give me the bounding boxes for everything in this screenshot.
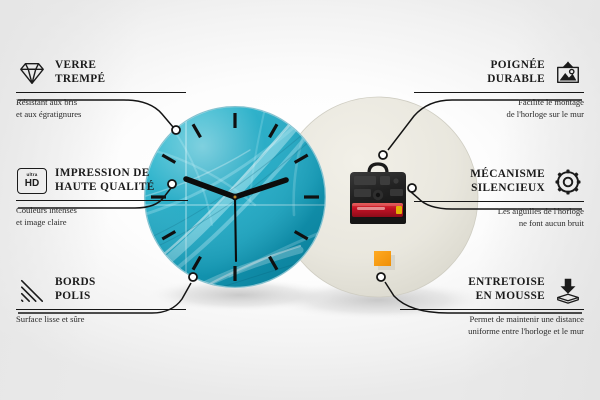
title-line-1: IMPRESSION DE xyxy=(55,167,155,181)
divider xyxy=(16,200,188,201)
feature-title: VERRE TREMPÉ xyxy=(55,59,105,87)
marker-polished-edges xyxy=(189,273,197,281)
marker-durable-hanger xyxy=(379,151,387,159)
feature-silent-mechanism: MÉCANISME SILENCIEUX Les aiguilles de l'… xyxy=(414,165,584,230)
picture-hanger-icon xyxy=(552,58,584,88)
title-line-1: MÉCANISME xyxy=(470,168,545,182)
desc-line-2: de l'horloge sur le mur xyxy=(414,109,584,121)
desc-line-1: Facilite le montage xyxy=(414,97,584,109)
desc-line-1: Les aiguilles de l'horloge xyxy=(414,206,584,218)
desc-line-2: uniforme entre l'horloge et le mur xyxy=(400,326,584,338)
desc-line-1: Permet de maintenir une distance xyxy=(400,314,584,326)
marker-foam-spacer xyxy=(377,273,385,281)
title-line-2: TREMPÉ xyxy=(55,73,105,87)
diamond-icon xyxy=(16,58,48,88)
feature-head: ENTRETOISE EN MOUSSE xyxy=(400,273,584,307)
divider xyxy=(400,309,584,310)
feature-title: BORDS POLIS xyxy=(55,276,96,304)
feature-title: ENTRETOISE EN MOUSSE xyxy=(468,276,545,304)
feature-head: ultra HD IMPRESSION DE HAUTE QUALITÉ xyxy=(16,164,188,198)
divider xyxy=(414,201,584,202)
title-line-1: POIGNÉE xyxy=(487,59,545,73)
feature-head: BORDS POLIS xyxy=(16,273,186,307)
battery xyxy=(352,203,403,217)
foam-spacer-icon xyxy=(552,275,584,305)
feature-title: MÉCANISME SILENCIEUX xyxy=(470,168,545,196)
desc-line-2: et aux égratignures xyxy=(16,109,186,121)
title-line-2: SILENCIEUX xyxy=(470,182,545,196)
title-line-1: ENTRETOISE xyxy=(468,276,545,290)
feature-durable-hanger: POIGNÉE DURABLE Facilite le montage de l… xyxy=(414,56,584,121)
feature-title: IMPRESSION DE HAUTE QUALITÉ xyxy=(55,167,155,195)
feature-description: Les aiguilles de l'horloge ne font aucun… xyxy=(414,206,584,229)
feature-head: POIGNÉE DURABLE xyxy=(414,56,584,90)
divider xyxy=(16,309,186,310)
feature-polished-edges: BORDS POLIS Surface lisse et sûre xyxy=(16,273,186,326)
title-line-2: EN MOUSSE xyxy=(468,290,545,304)
desc-line-2: et image claire xyxy=(16,217,188,229)
feature-head: VERRE TREMPÉ xyxy=(16,56,186,90)
infographic-canvas: VERRE TREMPÉ Résistant aux bris et aux é… xyxy=(0,0,600,400)
feature-description: Résistant aux bris et aux égratignures xyxy=(16,97,186,120)
divider xyxy=(414,92,584,93)
desc-line-1: Résistant aux bris xyxy=(16,97,186,109)
feature-title: POIGNÉE DURABLE xyxy=(487,59,545,87)
feature-description: Surface lisse et sûre xyxy=(16,314,186,326)
feature-head: MÉCANISME SILENCIEUX xyxy=(414,165,584,199)
mechanism-housing xyxy=(350,164,406,224)
feature-description: Couleurs intenses et image claire xyxy=(16,205,188,228)
feature-foam-spacer: ENTRETOISE EN MOUSSE Permet de maintenir… xyxy=(400,273,584,338)
desc-line-1: Couleurs intenses xyxy=(16,205,188,217)
title-line-1: BORDS xyxy=(55,276,96,290)
ultra-hd-icon: ultra HD xyxy=(16,166,48,196)
feature-description: Permet de maintenir une distance uniform… xyxy=(400,314,584,337)
divider xyxy=(16,92,186,93)
desc-line-2: ne font aucun bruit xyxy=(414,218,584,230)
hd-label: HD xyxy=(25,179,39,189)
title-line-2: HAUTE QUALITÉ xyxy=(55,181,155,195)
feature-high-quality-print: ultra HD IMPRESSION DE HAUTE QUALITÉ Cou… xyxy=(16,164,188,229)
feature-tempered-glass: VERRE TREMPÉ Résistant aux bris et aux é… xyxy=(16,56,186,121)
title-line-2: DURABLE xyxy=(487,73,545,87)
marker-tempered-glass xyxy=(172,126,180,134)
feature-description: Facilite le montage de l'horloge sur le … xyxy=(414,97,584,120)
title-line-2: POLIS xyxy=(55,290,96,304)
title-line-1: VERRE xyxy=(55,59,105,73)
desc-line-1: Surface lisse et sûre xyxy=(16,314,186,326)
polished-edges-icon xyxy=(16,275,48,305)
gear-icon xyxy=(552,167,584,197)
